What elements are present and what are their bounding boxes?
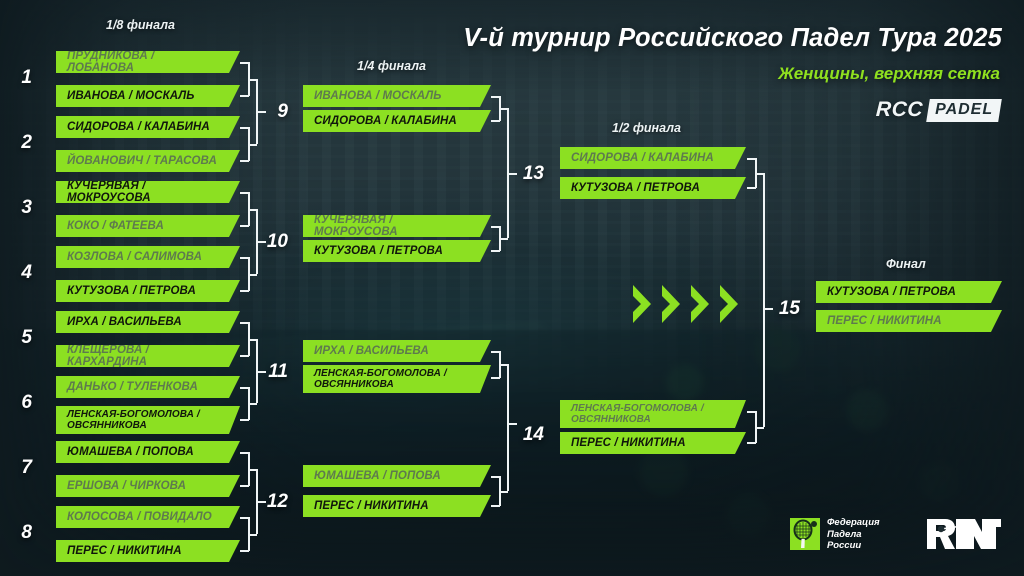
player-name: ЛЕНСКАЯ-БОГОМОЛОВА / ОВСЯННИКОВА	[67, 409, 200, 431]
padel-racket-icon	[790, 518, 820, 550]
federation-name: Федерация Падела России	[827, 517, 880, 552]
round-label-r16: 1/8 финала	[106, 18, 175, 32]
player-bar[interactable]: ЛЕНСКАЯ-БОГОМОЛОВА / ОВСЯННИКОВА	[560, 400, 746, 428]
player-bar[interactable]: ИРХА / ВАСИЛЬЕВА	[303, 340, 491, 362]
player-bar[interactable]: ПЕРЕС / НИКИТИНА	[56, 540, 240, 562]
player-bar[interactable]: ПЕРЕС / НИКИТИНА	[816, 310, 1002, 332]
chevron-right-icon	[631, 283, 655, 325]
player-name: КОЛОСОВА / ПОВИДАЛО	[67, 511, 212, 523]
player-name: ПРУДНИКОВА / ЛОБАНОВА	[67, 51, 224, 73]
player-bar[interactable]: СИДОРОВА / КАЛАБИНА	[303, 110, 491, 132]
player-bar[interactable]: СИДОРОВА / КАЛАБИНА	[560, 147, 746, 169]
player-bar[interactable]: КЛЕЩЕРОВА / КАРХАРДИНА	[56, 345, 240, 367]
player-name: КЛЕЩЕРОВА / КАРХАРДИНА	[67, 345, 224, 367]
seed-number-5: 5	[8, 327, 32, 349]
player-bar[interactable]: КУЧЕРЯВАЯ / МОКРОУСОВА	[303, 215, 491, 237]
player-bar[interactable]: ДАНЬКО / ТУЛЕНКОВА	[56, 376, 240, 398]
player-bar[interactable]: КОЗЛОВА / САЛИМОВА	[56, 246, 240, 268]
seed-number-1: 1	[8, 67, 32, 89]
player-bar[interactable]: ЛЕНСКАЯ-БОГОМОЛОВА / ОВСЯННИКОВА	[303, 365, 491, 393]
player-name: ЮМАШЕВА / ПОПОВА	[314, 470, 441, 482]
player-bar[interactable]: КОКО / ФАТЕЕВА	[56, 215, 240, 237]
page-title: V-й турнир Российского Падел Тура 2025	[463, 24, 1002, 53]
player-name: КУТУЗОВА / ПЕТРОВА	[67, 285, 196, 297]
player-name: ЛЕНСКАЯ-БОГОМОЛОВА / ОВСЯННИКОВА	[571, 403, 704, 425]
player-bar[interactable]: ЙОВАНОВИЧ / ТАРАСОВА	[56, 150, 240, 172]
player-bar[interactable]: ПЕРЕС / НИКИТИНА	[560, 432, 746, 454]
chevron-right-icon	[660, 283, 684, 325]
player-bar[interactable]: КОЛОСОВА / ПОВИДАЛО	[56, 506, 240, 528]
player-name: ПЕРЕС / НИКИТИНА	[827, 315, 942, 327]
rcc-logo-text: RCC	[875, 98, 923, 122]
seed-number-6: 6	[8, 392, 32, 414]
seed-number-12: 12	[264, 491, 288, 513]
player-bar[interactable]: СИДОРОВА / КАЛАБИНА	[56, 116, 240, 138]
seed-number-15: 15	[772, 298, 800, 320]
chevron-arrows-group	[631, 283, 742, 325]
seed-number-9: 9	[264, 101, 288, 123]
player-bar[interactable]: КУТУЗОВА / ПЕТРОВА	[56, 280, 240, 302]
player-name: ИВАНОВА / МОСКАЛЬ	[67, 90, 195, 102]
bracket-poster: V-й турнир Российского Падел Тура 2025 Ж…	[0, 0, 1024, 576]
player-name: ИРХА / ВАСИЛЬЕВА	[67, 316, 182, 328]
round-label-qf: 1/4 финала	[357, 59, 426, 73]
player-name: КУТУЗОВА / ПЕТРОВА	[314, 245, 443, 257]
player-name: ПЕРЕС / НИКИТИНА	[67, 545, 182, 557]
player-name: ЮМАШЕВА / ПОПОВА	[67, 446, 194, 458]
player-bar[interactable]: ЕРШОВА / ЧИРКОВА	[56, 475, 240, 497]
player-bar[interactable]: КУЧЕРЯВАЯ / МОКРОУСОВА	[56, 181, 240, 203]
chevron-right-icon	[689, 283, 713, 325]
player-name: ИРХА / ВАСИЛЬЕВА	[314, 345, 429, 357]
padel-logo-text: PADEL	[935, 101, 993, 119]
player-name: ПЕРЕС / НИКИТИНА	[314, 500, 429, 512]
round-label-sf: 1/2 финала	[612, 121, 681, 135]
rpt-logo	[925, 516, 1001, 557]
chevron-right-icon	[718, 283, 742, 325]
player-name: КУТУЗОВА / ПЕТРОВА	[571, 182, 700, 194]
player-bar[interactable]: КУТУЗОВА / ПЕТРОВА	[816, 281, 1002, 303]
player-name: СИДОРОВА / КАЛАБИНА	[314, 115, 457, 127]
player-bar[interactable]: ЛЕНСКАЯ-БОГОМОЛОВА / ОВСЯННИКОВА	[56, 406, 240, 434]
player-name: КУЧЕРЯВАЯ / МОКРОУСОВА	[314, 215, 475, 237]
seed-number-7: 7	[8, 457, 32, 479]
player-bar[interactable]: ИВАНОВА / МОСКАЛЬ	[303, 85, 491, 107]
padel-logo-badge: PADEL	[926, 99, 1002, 122]
player-name: КОЗЛОВА / САЛИМОВА	[67, 251, 202, 263]
player-name: ЛЕНСКАЯ-БОГОМОЛОВА / ОВСЯННИКОВА	[314, 368, 447, 390]
player-name: ПЕРЕС / НИКИТИНА	[571, 437, 686, 449]
player-bar[interactable]: КУТУЗОВА / ПЕТРОВА	[303, 240, 491, 262]
seed-number-8: 8	[8, 522, 32, 544]
player-name: СИДОРОВА / КАЛАБИНА	[67, 121, 210, 133]
player-bar[interactable]: ЮМАШЕВА / ПОПОВА	[303, 465, 491, 487]
player-name: КУТУЗОВА / ПЕТРОВА	[827, 286, 956, 298]
player-bar[interactable]: ПЕРЕС / НИКИТИНА	[303, 495, 491, 517]
rpt-logo-icon	[925, 516, 1001, 552]
seed-number-11: 11	[264, 361, 288, 383]
seed-number-10: 10	[264, 231, 288, 253]
player-bar[interactable]: ИВАНОВА / МОСКАЛЬ	[56, 85, 240, 107]
seed-number-3: 3	[8, 197, 32, 219]
page-subtitle: Женщины, верхняя сетка	[778, 64, 1000, 84]
player-bar[interactable]: ПРУДНИКОВА / ЛОБАНОВА	[56, 51, 240, 73]
player-name: ИВАНОВА / МОСКАЛЬ	[314, 90, 442, 102]
seed-number-14: 14	[516, 424, 544, 446]
player-bar[interactable]: КУТУЗОВА / ПЕТРОВА	[560, 177, 746, 199]
player-name: ЙОВАНОВИЧ / ТАРАСОВА	[67, 155, 217, 167]
round-label-f: Финал	[886, 257, 926, 271]
player-name: ДАНЬКО / ТУЛЕНКОВА	[67, 381, 198, 393]
federation-logo: Федерация Падела России	[790, 517, 880, 552]
player-name: СИДОРОВА / КАЛАБИНА	[571, 152, 714, 164]
rcc-padel-logo: RCC PADEL	[876, 98, 1000, 122]
player-name: КУЧЕРЯВАЯ / МОКРОУСОВА	[67, 181, 224, 203]
player-name: ЕРШОВА / ЧИРКОВА	[67, 480, 186, 492]
seed-number-2: 2	[8, 132, 32, 154]
player-bar[interactable]: ЮМАШЕВА / ПОПОВА	[56, 441, 240, 463]
player-name: КОКО / ФАТЕЕВА	[67, 220, 164, 232]
seed-number-4: 4	[8, 262, 32, 284]
player-bar[interactable]: ИРХА / ВАСИЛЬЕВА	[56, 311, 240, 333]
seed-number-13: 13	[516, 163, 544, 185]
